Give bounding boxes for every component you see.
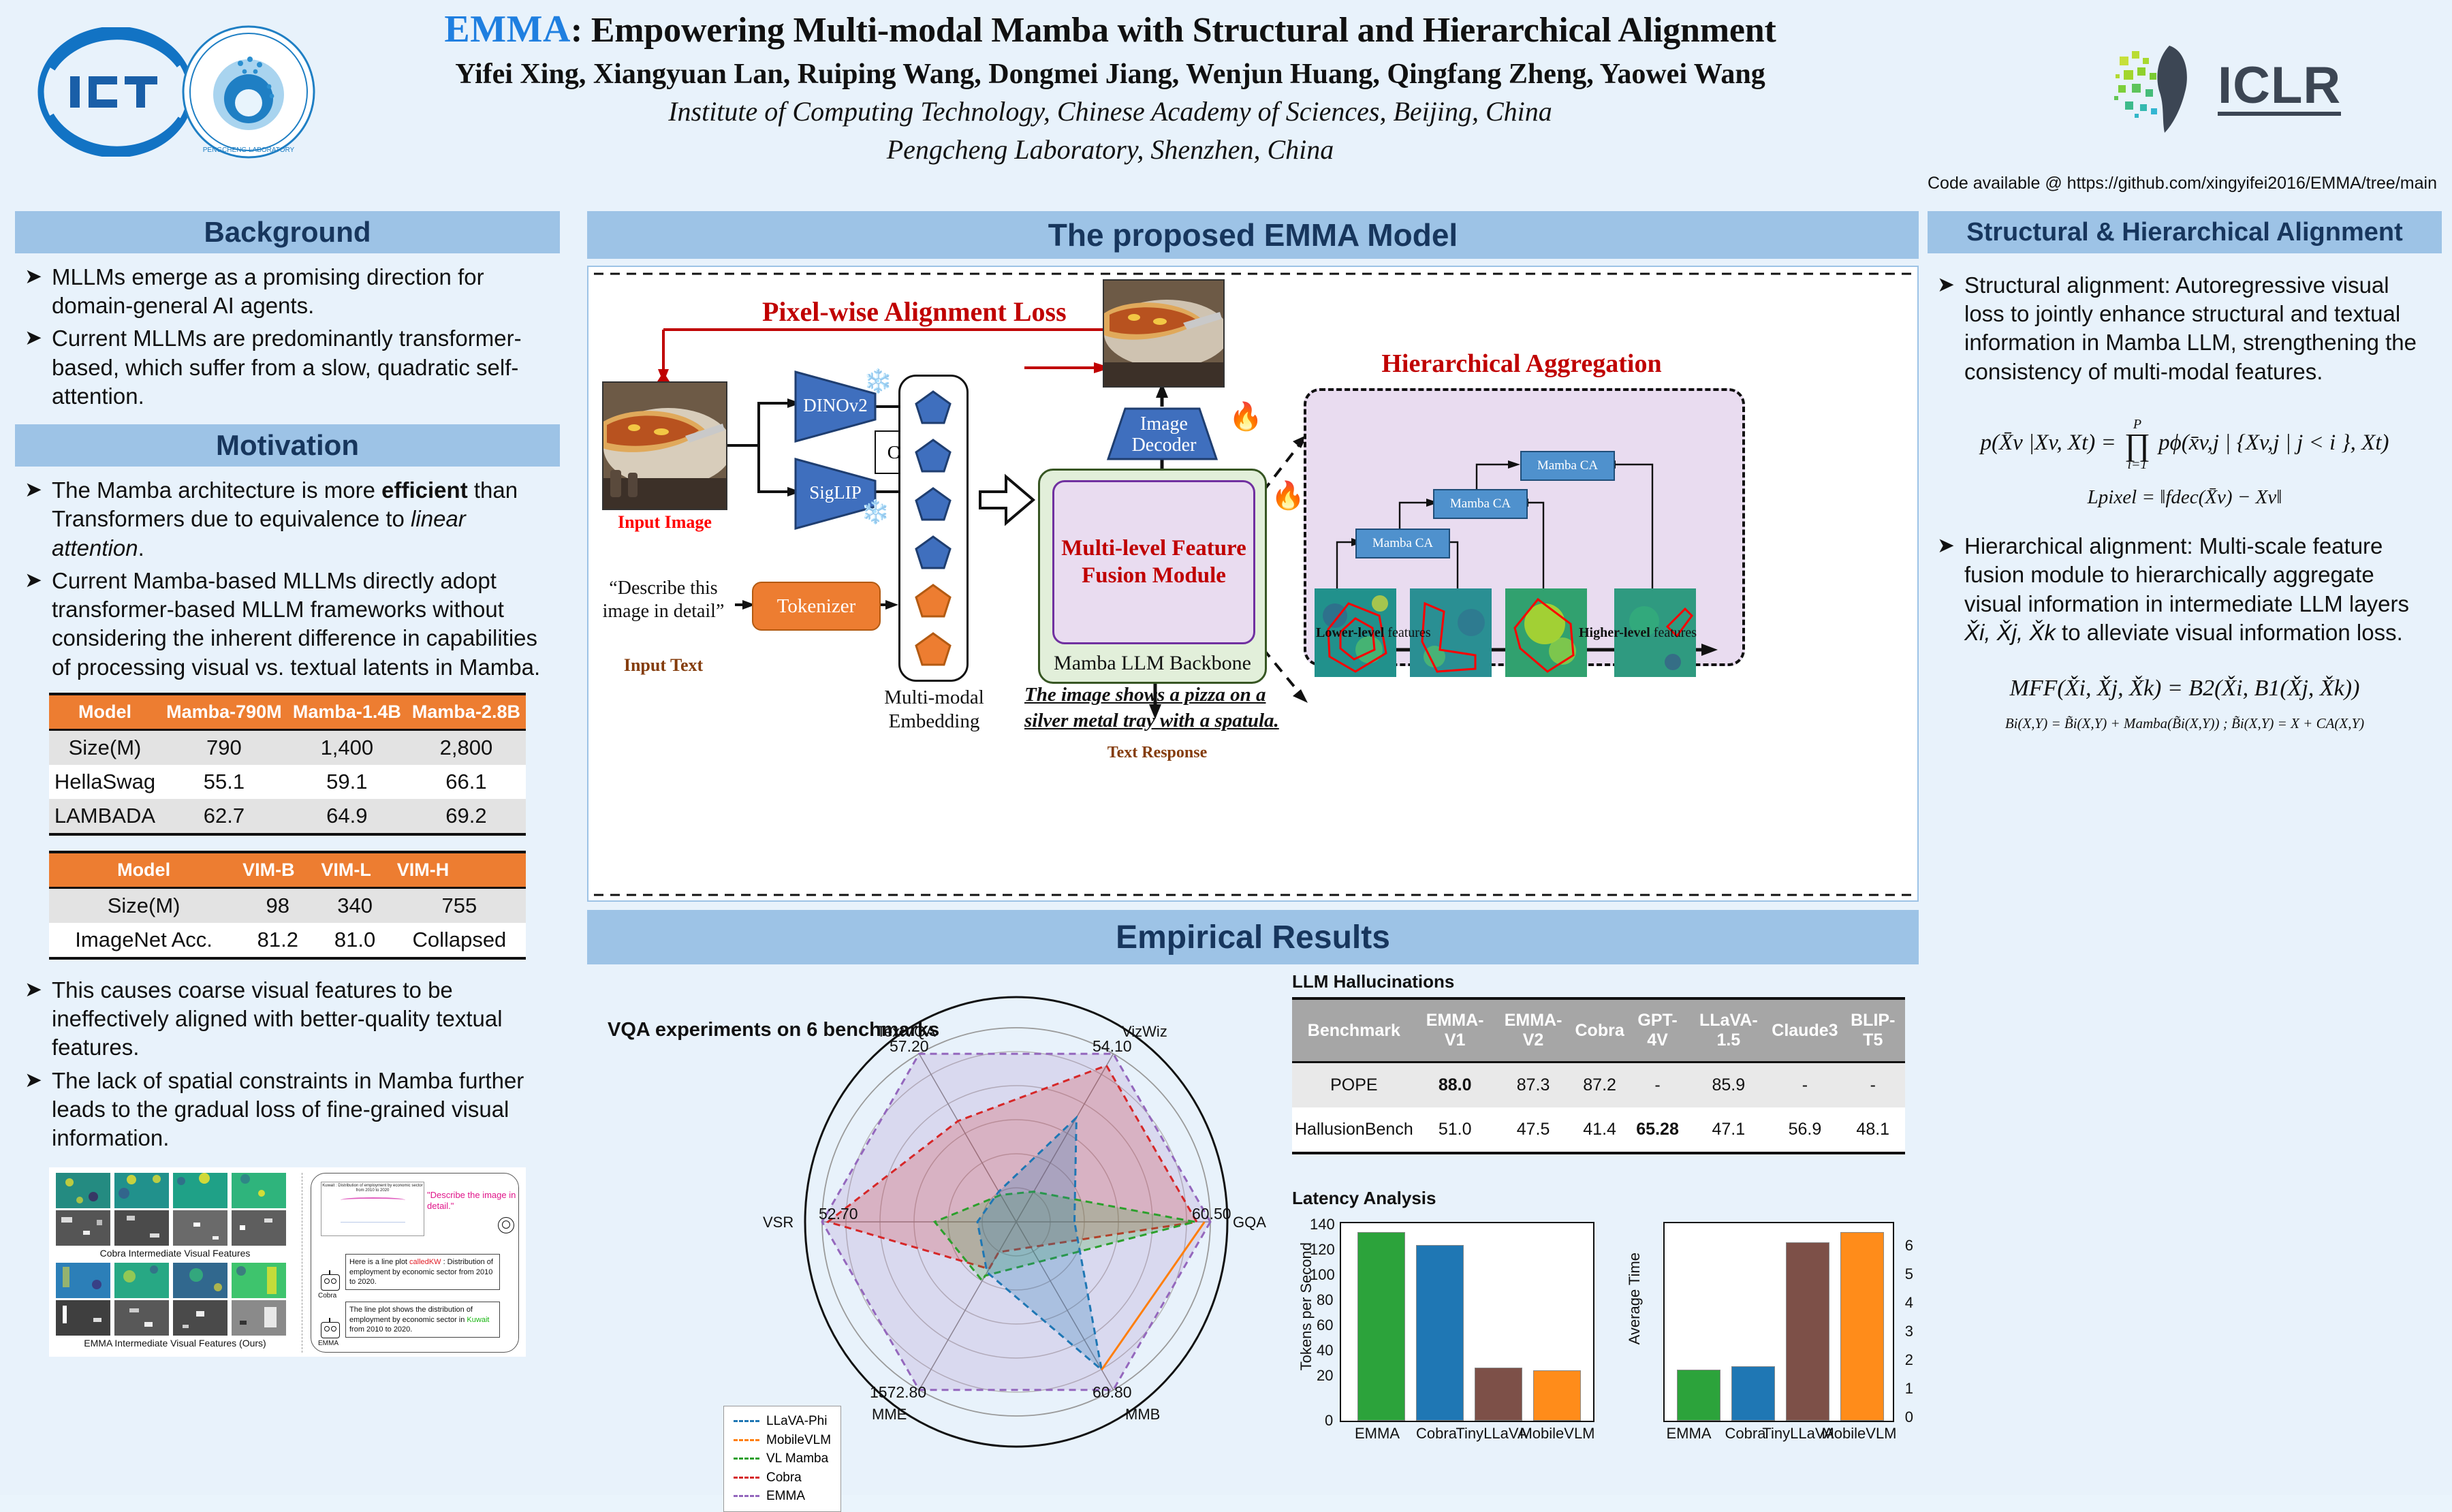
center-column: The proposed EMMA Model Pixel-wise Align…	[587, 211, 1919, 1487]
cobra-reply-keyword: calledKW	[409, 1258, 441, 1266]
cell: 69.2	[407, 799, 526, 834]
radar-axis-label-mmb: MMB	[1125, 1406, 1160, 1423]
eq1-rhs: pϕ(x̄v,j | {Xv,j | j < i }, Xt)	[2158, 430, 2389, 455]
emma-bot-label: EMMA	[318, 1340, 339, 1347]
emma-heatmap-row	[56, 1263, 294, 1298]
table-row: ImageNet Acc. 81.2 81.0 Collapsed	[49, 923, 526, 958]
background-bullet-2: Current MLLMs are predominantly transfor…	[52, 324, 552, 411]
legend-label: EMMA	[766, 1487, 805, 1506]
equation-pixel-loss: Lpixel = ‖fdec(X̄v) − Xv‖	[1928, 486, 2442, 509]
bar-emma	[1357, 1232, 1405, 1421]
mask-tile	[114, 1210, 169, 1246]
th-blipt5: BLIP-T5	[1841, 998, 1905, 1062]
feature-map-level-3	[1505, 588, 1587, 677]
vqa-radar-chart: VQA experiments on 6 benchmarks	[587, 970, 1282, 1487]
legend-label: LLaVA-Phi	[766, 1412, 827, 1431]
th-model: Model	[49, 852, 238, 888]
hierarchical-aggregation-panel: Mamba CA Mamba CA Mamba CA	[1304, 388, 1745, 666]
divider	[302, 1173, 303, 1353]
tick: 2	[1905, 1351, 1913, 1369]
table-row: LAMBADA 62.7 64.9 69.2	[49, 799, 526, 834]
arrow-bullet-icon: ➤	[1937, 271, 1955, 386]
caption-cobra-features: Cobra Intermediate Visual Features	[56, 1248, 294, 1259]
legend-swatch	[734, 1439, 759, 1441]
cell: 755	[393, 887, 526, 923]
radar-svg: GQA VizWiz TextVQA VSR MME MMB 60.50 54.…	[587, 970, 1282, 1487]
hierarchical-aggregation-title: Hierarchical Aggregation	[1331, 349, 1712, 379]
legend-item: EMMA	[734, 1487, 831, 1506]
cobra-reply-pre: Here is a line plot	[349, 1258, 409, 1266]
title-rest: : Empowering Multi-modal Mamba with Stru…	[571, 11, 1776, 50]
tick: 140	[1310, 1216, 1335, 1233]
multimodal-embedding-label: Multi-modal Embedding	[875, 686, 994, 734]
th-gpt4v: GPT-4V	[1627, 998, 1688, 1062]
legend-label: VL Mamba	[766, 1449, 828, 1468]
equation-autoregressive: p(X̄v |Xv, Xt) = P ∏ i=1 pϕ(x̄v,j | {Xv,…	[1928, 418, 2442, 471]
mask-tile	[56, 1300, 110, 1336]
mamba-ca-block-3: Mamba CA	[1520, 451, 1615, 481]
tps-y-axis-label: Tokens per Second	[1298, 1242, 1315, 1370]
image-decoder-label: Image Decoder	[1113, 413, 1215, 456]
th-llava: LLaVA-1.5	[1688, 998, 1769, 1062]
product-symbol: ∏	[2124, 431, 2150, 458]
tps-xcat-mobilevlm: MobileVLM	[1515, 1425, 1600, 1443]
radar-axis-label-vsr: VSR	[763, 1214, 793, 1231]
radar-axis-label-mme: MME	[872, 1406, 907, 1423]
bar-tinyllava	[1786, 1242, 1829, 1421]
arrow-bullet-icon: ➤	[25, 567, 42, 682]
arrow-bullet-icon: ➤	[25, 1067, 42, 1153]
multimodal-embedding-column	[898, 375, 969, 682]
bar-emma	[1677, 1370, 1720, 1421]
mask-tile	[114, 1300, 169, 1336]
cell: 790	[161, 729, 287, 765]
background-bullet-list: ➤ MLLMs emerge as a promising direction …	[15, 253, 560, 419]
motivation-bullet-2: Current Mamba-based MLLMs directly adopt…	[52, 567, 552, 682]
vim-scaling-table: Model VIM-B VIM-L VIM-H Size(M) 98 340 7…	[49, 851, 526, 960]
cell: Size(M)	[49, 887, 238, 923]
list-item: ➤ This causes coarse visual features to …	[25, 976, 552, 1062]
tick: 120	[1310, 1241, 1335, 1259]
emma-bot-icon	[321, 1322, 340, 1338]
heatmap-tile	[114, 1263, 169, 1298]
reconstructed-image-thumbnail	[1103, 279, 1225, 388]
caption-emma-features: EMMA Intermediate Visual Features (Ours)	[56, 1338, 294, 1349]
tick: 1	[1905, 1380, 1913, 1398]
visual-token-pentagon	[915, 438, 952, 473]
cell: 87.2	[1573, 1062, 1627, 1108]
cell: 47.1	[1688, 1107, 1769, 1153]
text-token-pentagon	[915, 583, 952, 618]
cell: 51.0	[1416, 1107, 1494, 1153]
user-avatar-icon	[498, 1217, 514, 1233]
tick: 80	[1317, 1291, 1333, 1309]
heatmap-tile	[114, 1173, 169, 1208]
mini-line-plot: Kuwait : Distribution of employment by e…	[321, 1182, 424, 1236]
cell: 81.2	[238, 923, 317, 958]
cell: 88.0	[1416, 1062, 1494, 1108]
intermediate-features-figure: Cobra Intermediate Visual Features EMMA …	[49, 1167, 526, 1357]
visual-token-pentagon	[915, 486, 952, 522]
list-item: ➤ Structural alignment: Autoregressive v…	[1937, 271, 2434, 386]
tick: 0	[1325, 1412, 1333, 1430]
pixelwise-loss-label: Pixel-wise Alignment Loss	[762, 296, 1067, 328]
legend-swatch	[734, 1458, 759, 1460]
radar-tick-vsr: 52.70	[819, 1205, 858, 1223]
table-header-row: Benchmark EMMA-V1 EMMA-V2 Cobra GPT-4V L…	[1292, 998, 1905, 1062]
lower-rest: features	[1384, 625, 1430, 640]
input-image-label: Input Image	[603, 512, 726, 533]
th-vimh: VIM-H	[393, 852, 526, 888]
cell: POPE	[1292, 1062, 1416, 1108]
th-emma-v1: EMMA-V1	[1416, 998, 1494, 1062]
table-row: HallusionBench 51.0 47.5 41.4 65.28 47.1…	[1292, 1107, 1905, 1153]
tokenizer-block: Tokenizer	[752, 582, 881, 631]
code-link[interactable]: Code available @ https://github.com/xing…	[1928, 174, 2437, 193]
text-response-label: Text Response	[1024, 744, 1290, 762]
results-content: VQA experiments on 6 benchmarks	[587, 970, 1919, 1487]
cell: 41.4	[1573, 1107, 1627, 1153]
table-row: Size(M) 790 1,400 2,800	[49, 729, 526, 765]
bar-tinyllava	[1475, 1368, 1522, 1421]
legend-item: MobileVLM	[734, 1431, 831, 1450]
cell: 47.5	[1494, 1107, 1573, 1153]
list-item: ➤ MLLMs emerge as a promising direction …	[25, 263, 552, 320]
text-response-value: The image shows a pizza on a silver meta…	[1024, 682, 1290, 734]
list-item: ➤ The Mamba architecture is more efficie…	[25, 476, 552, 563]
motivation-tail-bullets: ➤ This causes coarse visual features to …	[15, 966, 560, 1161]
tps-plot-area: 140 120 100 80 60 40 20 0	[1340, 1222, 1594, 1422]
cell: 65.28	[1627, 1107, 1688, 1153]
radar-tick-mmb: 60.80	[1093, 1383, 1132, 1401]
section-header-alignment: Structural & Hierarchical Alignment	[1928, 211, 2442, 253]
multi-level-feature-fusion-module: Multi-level Feature Fusion Module	[1052, 480, 1255, 644]
legend-swatch	[734, 1477, 759, 1479]
iclr-brain-icon	[2105, 37, 2207, 140]
table-row: HellaSwag 55.1 59.1 66.1	[49, 765, 526, 799]
lower-level-features-label: Lower-level features	[1316, 625, 1431, 641]
motivation-bullet-4: The lack of spatial constraints in Mamba…	[52, 1067, 552, 1153]
tick: 100	[1310, 1266, 1335, 1284]
pengcheng-laboratory-logo: PENGCHENG LABORATORY	[180, 24, 317, 160]
input-image-thumbnail	[602, 381, 727, 510]
emma-reply-pre: The line plot shows the distribution of …	[349, 1306, 473, 1323]
at-xcat-mobilevlm: MobileVLM	[1817, 1425, 1902, 1443]
tick: 3	[1905, 1323, 1913, 1340]
cell: -	[1769, 1062, 1840, 1108]
cell: 81.0	[317, 923, 392, 958]
table-header-row: Model Mamba-790M Mamba-1.4B Mamba-2.8B	[49, 694, 526, 730]
poster-header: PENGCHENG LABORATORY EMMA: Empowering Mu…	[0, 0, 2452, 204]
section-header-model: The proposed EMMA Model	[587, 211, 1919, 259]
snowflake-icon: ❄️	[864, 368, 892, 395]
latency-title: Latency Analysis	[1292, 1188, 1436, 1209]
legend-item: VL Mamba	[734, 1449, 831, 1468]
mamba-backbone-label: Mamba LLM Backbone	[1040, 652, 1265, 675]
mini-plot-curve	[341, 1197, 405, 1203]
tick: 40	[1317, 1342, 1333, 1359]
table-row: POPE 88.0 87.3 87.2 - 85.9 - -	[1292, 1062, 1905, 1108]
tick: 5	[1905, 1265, 1913, 1283]
emma-mask-row	[56, 1300, 294, 1336]
mamba-ca-block-2: Mamba CA	[1433, 489, 1528, 519]
mot1-a: The Mamba architecture is more	[52, 477, 381, 503]
hierarchical-alignment-bullet: Hierarchical alignment: Multi-scale feat…	[1964, 532, 2434, 647]
mini-plot-baseline	[341, 1222, 405, 1223]
affiliation-1: Institute of Computing Technology, Chine…	[327, 95, 1893, 129]
tick: 4	[1905, 1294, 1913, 1312]
higher-rest: features	[1650, 625, 1697, 640]
tick: 6	[1905, 1237, 1913, 1255]
list-item: ➤ Current Mamba-based MLLMs directly ado…	[25, 567, 552, 682]
left-column: Background ➤ MLLMs emerge as a promising…	[15, 211, 560, 1357]
th-benchmark: Benchmark	[1292, 998, 1416, 1062]
cobra-reply-bubble: Here is a line plot calledKW : Distribut…	[345, 1254, 500, 1290]
bar-cobra	[1731, 1366, 1775, 1421]
legend-swatch	[734, 1495, 759, 1497]
architecture-diagram: Pixel-wise Alignment Loss	[587, 266, 1919, 902]
th-emma-v2: EMMA-V2	[1494, 998, 1573, 1062]
arrow-bullet-icon: ➤	[25, 476, 42, 563]
arrow-bullet-icon: ➤	[25, 976, 42, 1062]
radar-tick-gqa: 60.50	[1192, 1205, 1231, 1223]
table-header-row: Model VIM-B VIM-L VIM-H	[49, 852, 526, 888]
dinov2-label: DINOv2	[793, 395, 878, 416]
cell: 55.1	[161, 765, 287, 799]
arrow-bullet-icon: ➤	[25, 324, 42, 411]
svg-text:PENGCHENG LABORATORY: PENGCHENG LABORATORY	[203, 146, 295, 154]
radar-tick-mme: 1572.80	[870, 1383, 926, 1401]
th-mamba14: Mamba-1.4B	[287, 694, 407, 730]
hb-c: to alleviate visual information loss.	[2056, 620, 2403, 645]
poster-root: PENGCHENG LABORATORY EMMA: Empowering Mu…	[0, 0, 2452, 1495]
eq1-lhs: p(X̄v |Xv, Xt) =	[1980, 430, 2116, 455]
mask-tile	[232, 1300, 286, 1336]
tick: 60	[1317, 1317, 1333, 1334]
cell: ImageNet Acc.	[49, 923, 238, 958]
cell: 85.9	[1688, 1062, 1769, 1108]
tick: 0	[1905, 1408, 1913, 1426]
section-header-results: Empirical Results	[587, 910, 1919, 964]
arrow-bullet-icon: ➤	[25, 263, 42, 320]
mask-tile	[232, 1210, 286, 1246]
list-item: ➤ The lack of spatial constraints in Mam…	[25, 1067, 552, 1153]
mamba-scaling-table: Model Mamba-790M Mamba-1.4B Mamba-2.8B S…	[49, 693, 526, 836]
avgtime-y-axis-label: Average Time	[1626, 1253, 1644, 1344]
equation-block: Bi(X,Y) = B̃i(X,Y) + Mamba(B̃i(X,Y)) ; B…	[1928, 715, 2442, 732]
bar-mobilevlm	[1533, 1370, 1581, 1421]
mot1-e: .	[138, 535, 144, 561]
radar-chart-title: VQA experiments on 6 benchmarks	[608, 1019, 939, 1041]
lower-bold: Lower-level	[1316, 625, 1384, 640]
cell: 59.1	[287, 765, 407, 799]
th-viml: VIM-L	[317, 852, 392, 888]
affiliation-2: Pengcheng Laboratory, Shenzhen, China	[327, 133, 1893, 167]
heatmap-tile	[232, 1263, 286, 1298]
cell: LAMBADA	[49, 799, 161, 834]
right-column: Structural & Hierarchical Alignment ➤ St…	[1928, 211, 2442, 732]
heatmap-tile	[56, 1263, 110, 1298]
legend-swatch	[734, 1420, 759, 1422]
text-token-pentagon	[915, 631, 952, 667]
user-question-bubble: "Describe the image in detail."	[427, 1190, 518, 1212]
heatmap-tile	[173, 1173, 227, 1208]
cell: HellaSwag	[49, 765, 161, 799]
cell: -	[1627, 1062, 1688, 1108]
cell: 98	[238, 887, 317, 923]
section-header-background: Background	[15, 211, 560, 253]
heatmap-tile	[173, 1263, 227, 1298]
cell: 340	[317, 887, 392, 923]
list-item: ➤ Hierarchical alignment: Multi-scale fe…	[1937, 532, 2434, 647]
cell: 56.9	[1769, 1107, 1840, 1153]
mini-plot-title: Kuwait : Distribution of employment by e…	[321, 1184, 424, 1193]
higher-level-features-label: Higher-level features	[1579, 625, 1697, 641]
th-vimb: VIM-B	[238, 852, 317, 888]
text-response-inner: The image shows a pizza on a silver meta…	[1024, 684, 1279, 731]
radar-axis-label-gqa: GQA	[1233, 1214, 1266, 1231]
cell: 66.1	[407, 765, 526, 799]
cell: 62.7	[161, 799, 287, 834]
cobra-bot-icon	[321, 1274, 340, 1291]
radar-legend: LLaVA-Phi MobileVLM VL Mamba Cobra EMMA	[723, 1406, 841, 1512]
input-text-value: “Describe this image in detail”	[595, 577, 732, 623]
cobra-mask-row	[56, 1210, 294, 1246]
cell: -	[1841, 1062, 1905, 1108]
heatmap-tile	[232, 1173, 286, 1208]
background-bullet-1: MLLMs emerge as a promising direction fo…	[52, 263, 552, 320]
motivation-bullet-1: The Mamba architecture is more efficient…	[52, 476, 552, 563]
mamba-llm-backbone-box: Multi-level Feature Fusion Module Mamba …	[1038, 469, 1267, 684]
cell: 48.1	[1841, 1107, 1905, 1153]
hallucination-table: Benchmark EMMA-V1 EMMA-V2 Cobra GPT-4V L…	[1292, 997, 1905, 1154]
chat-container: Kuwait : Distribution of employment by e…	[311, 1173, 519, 1353]
hierarchical-bullets: ➤ Hierarchical alignment: Multi-scale fe…	[1928, 509, 2442, 655]
cobra-bot-label: Cobra	[318, 1292, 336, 1300]
mask-tile	[173, 1210, 227, 1246]
arrow-bullet-icon: ➤	[1937, 532, 1955, 647]
section-header-motivation: Motivation	[15, 424, 560, 467]
list-item: ➤ Current MLLMs are predominantly transf…	[25, 324, 552, 411]
heatmap-tile	[56, 1173, 110, 1208]
qualitative-chat-figure: Kuwait : Distribution of employment by e…	[311, 1173, 519, 1353]
hb-a: Hierarchical alignment: Multi-scale feat…	[1964, 533, 2409, 616]
alignment-bullets: ➤ Structural alignment: Autoregressive v…	[1928, 253, 2442, 394]
bar-cobra	[1416, 1245, 1464, 1421]
title-emma: EMMA	[444, 8, 571, 50]
th-model: Model	[49, 694, 161, 730]
table-row: Size(M) 98 340 755	[49, 887, 526, 923]
visual-token-pentagon	[915, 390, 952, 425]
emma-reply-post: from 2010 to 2020.	[349, 1325, 412, 1334]
mamba-ca-block-1: Mamba CA	[1355, 529, 1450, 558]
legend-item: Cobra	[734, 1468, 831, 1487]
legend-item: LLaVA-Phi	[734, 1412, 831, 1431]
radar-tick-vizwiz: 54.10	[1093, 1037, 1132, 1055]
flame-icon: 🔥	[1271, 479, 1305, 511]
eq1-prod-bot: i=1	[2124, 458, 2150, 471]
th-cobra: Cobra	[1573, 998, 1627, 1062]
iclr-logo: ICLR	[2105, 37, 2341, 140]
page-title: EMMA: Empowering Multi-modal Mamba with …	[327, 8, 1893, 51]
structural-alignment-bullet: Structural alignment: Autoregressive vis…	[1964, 271, 2434, 386]
hallucinations-title: LLM Hallucinations	[1292, 971, 1454, 992]
bar-mobilevlm	[1840, 1232, 1884, 1421]
emma-reply-keyword: Kuwait	[467, 1316, 489, 1324]
mask-tile	[173, 1300, 227, 1336]
snowflake-icon: ❄️	[861, 499, 890, 526]
th-mamba28: Mamba-2.8B	[407, 694, 526, 730]
mot1-b: efficient	[381, 477, 468, 503]
feature-maps-column: Cobra Intermediate Visual Features EMMA …	[56, 1173, 294, 1353]
ict-logo	[37, 27, 194, 157]
motivation-bullet-3: This causes coarse visual features to be…	[52, 976, 552, 1062]
emma-reply-bubble: The line plot shows the distribution of …	[345, 1302, 500, 1338]
legend-label: MobileVLM	[766, 1431, 831, 1450]
th-mamba790: Mamba-790M	[161, 694, 287, 730]
cell: Size(M)	[49, 729, 161, 765]
flame-icon: 🔥	[1229, 400, 1263, 432]
tick: 20	[1317, 1367, 1333, 1385]
motivation-bullet-list: ➤ The Mamba architecture is more efficie…	[15, 467, 560, 690]
cobra-heatmap-row	[56, 1173, 294, 1208]
avgtime-plot-area: 6 5 4 3 2 1 0	[1663, 1222, 1894, 1422]
cell: 1,400	[287, 729, 407, 765]
input-text-label: Input Text	[595, 655, 732, 676]
author-list: Yifei Xing, Xiangyuan Lan, Ruiping Wang,…	[327, 58, 1893, 91]
equation-mff: MFF(X̌i, X̌j, X̌k) = B2(X̌i, B1(X̌j, X̌k…	[1928, 676, 2442, 702]
cell: Collapsed	[393, 923, 526, 958]
cell: 64.9	[287, 799, 407, 834]
mask-tile	[56, 1210, 110, 1246]
cell: 87.3	[1494, 1062, 1573, 1108]
cell: 2,800	[407, 729, 526, 765]
higher-bold: Higher-level	[1579, 625, 1650, 640]
visual-token-pentagon	[915, 535, 952, 570]
cell: HallusionBench	[1292, 1107, 1416, 1153]
hb-b: X̌i, X̌j, X̌k	[1964, 620, 2056, 645]
legend-label: Cobra	[766, 1468, 802, 1487]
iclr-wordmark: ICLR	[2218, 61, 2341, 116]
th-claude3: Claude3	[1769, 998, 1840, 1062]
